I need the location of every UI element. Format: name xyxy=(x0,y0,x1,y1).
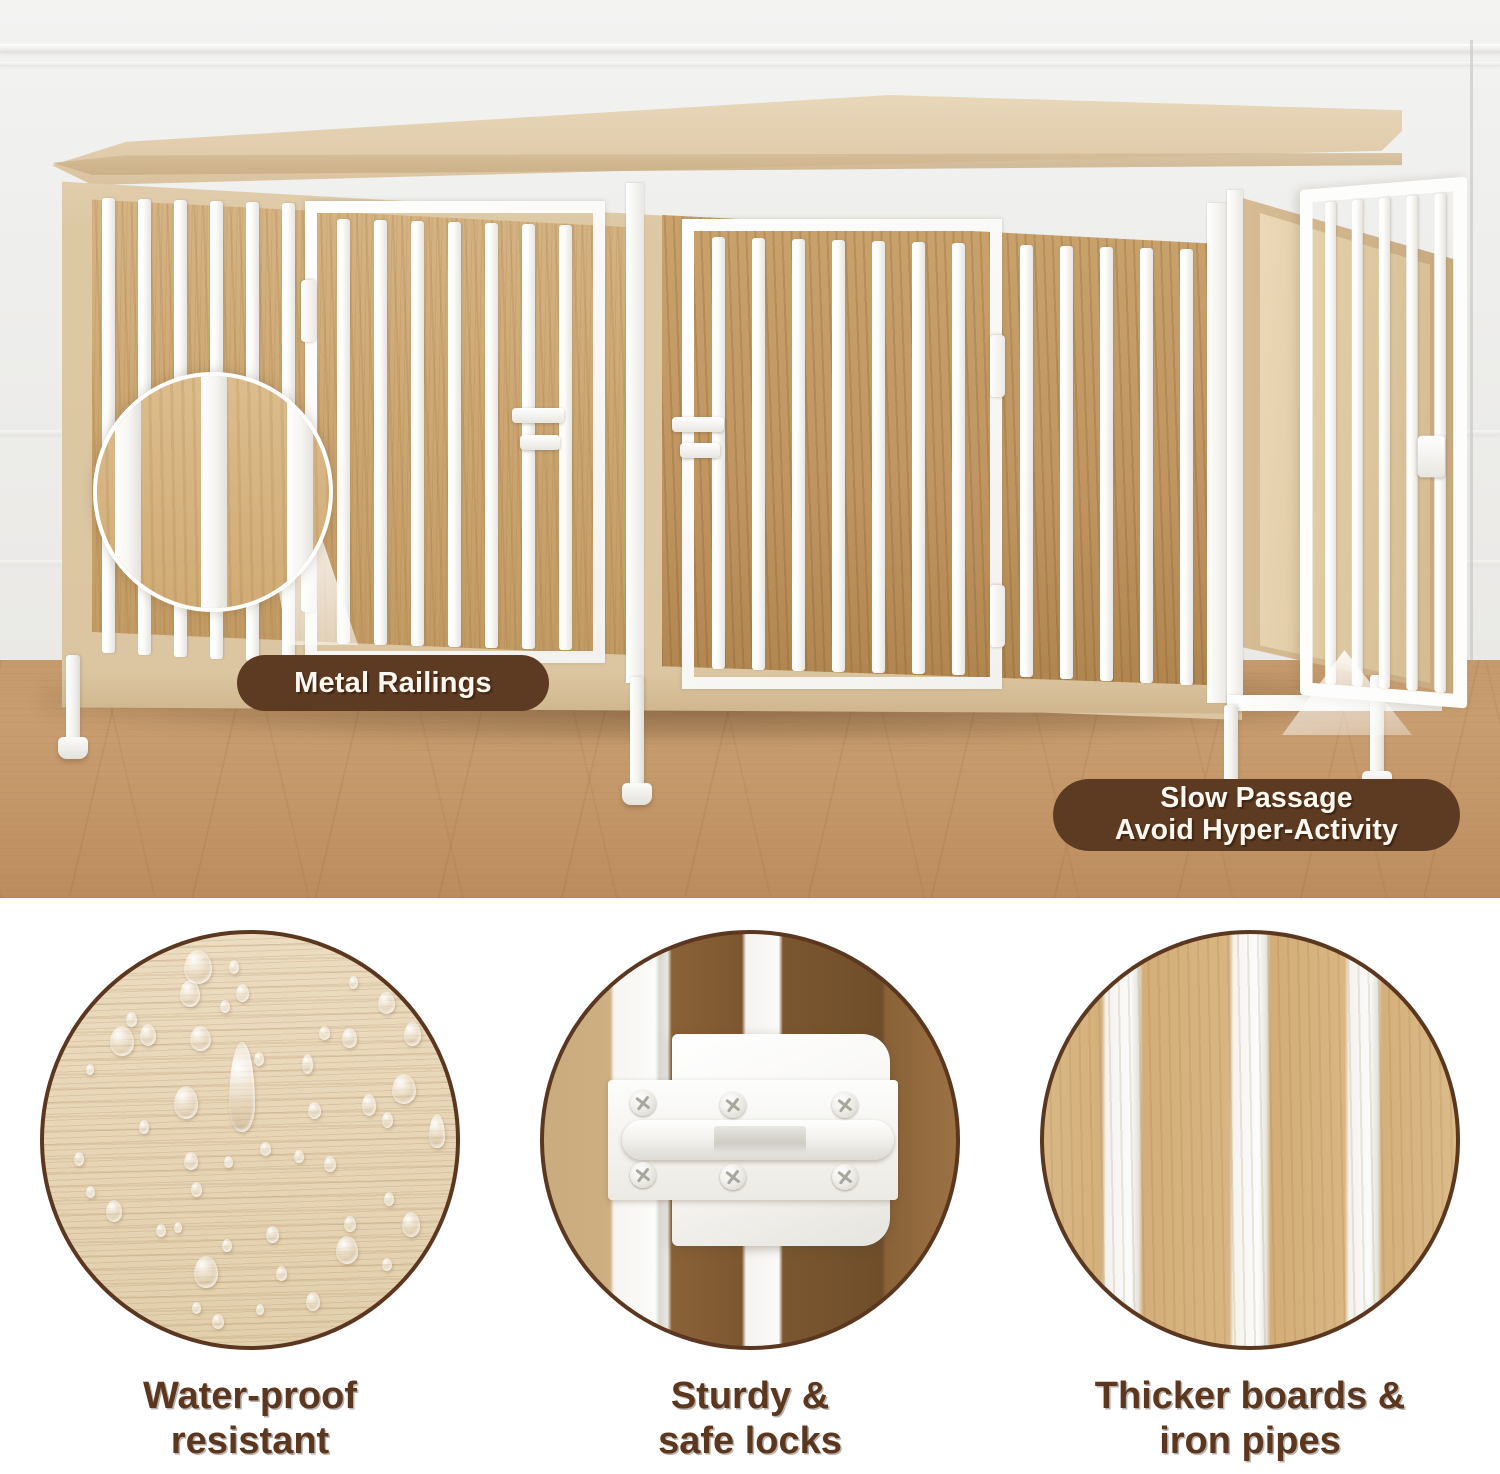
feature-highlights-row: Water-proof resistant Sturdy & safe lock… xyxy=(0,898,1500,1474)
door-hinge-icon xyxy=(301,280,316,342)
door-bar xyxy=(485,223,498,648)
badge-slow-passage-line2: Avoid Hyper-Activity xyxy=(1115,815,1398,847)
open-door-bar xyxy=(1406,195,1417,691)
badge-metal-railings: Metal Railings xyxy=(237,655,549,711)
crate-right-post xyxy=(1207,203,1227,703)
magnified-rail-bar xyxy=(201,372,227,612)
badge-slow-passage: Slow Passage Avoid Hyper-Activity xyxy=(1053,779,1460,851)
door-bar xyxy=(411,221,424,646)
feature-thicker-boards: Thicker boards & iron pipes xyxy=(1000,898,1500,1474)
water-droplets-icon xyxy=(40,930,460,1350)
feature-caption-line1: Sturdy & xyxy=(658,1374,842,1419)
door-bar xyxy=(832,240,845,672)
door-bar xyxy=(792,239,805,671)
product-feature-page: Metal Railings Slow Passage Avoid Hyper-… xyxy=(0,0,1500,1474)
magnified-rail-bar xyxy=(287,372,313,612)
wall-molding-top xyxy=(0,44,1500,53)
lock-screw xyxy=(832,1092,858,1118)
door-bar xyxy=(337,219,350,644)
lock-bolt-spring xyxy=(714,1126,806,1154)
rail-bar xyxy=(1100,247,1113,681)
feature-caption: Sturdy & safe locks xyxy=(658,1374,842,1464)
door-bar xyxy=(448,222,461,647)
wall-panel-line xyxy=(1470,40,1473,660)
crate-open-door[interactable] xyxy=(1300,177,1467,709)
hero-product-photo: Metal Railings Slow Passage Avoid Hyper-… xyxy=(0,0,1500,898)
door-latch-right-lower[interactable] xyxy=(680,443,720,458)
badge-slow-passage-line1: Slow Passage xyxy=(1160,783,1353,815)
slide-bolt-lock-icon xyxy=(540,930,960,1350)
open-door-bar xyxy=(1352,199,1363,687)
crate-leg xyxy=(66,655,80,745)
feature-caption-line2: iron pipes xyxy=(1095,1419,1405,1464)
door-bar xyxy=(872,241,885,673)
feature-caption-line1: Water-proof xyxy=(143,1374,357,1419)
door-bar xyxy=(374,220,387,645)
open-door-bar xyxy=(1379,197,1390,689)
lock-screw xyxy=(630,1162,656,1188)
door-bar xyxy=(559,225,572,650)
crate-leg-foot xyxy=(58,737,88,759)
crate-right-opening-frame xyxy=(1227,190,1243,710)
crate-leg xyxy=(630,677,644,789)
crate-center-divider xyxy=(626,183,644,683)
metal-railings-magnifier xyxy=(93,372,333,612)
lock-screw xyxy=(720,1164,746,1190)
crate-leg-foot xyxy=(622,783,652,805)
rail-bar xyxy=(1060,246,1073,679)
board-and-pipe-icon xyxy=(1040,930,1460,1350)
door-hinge-icon xyxy=(990,585,1005,647)
rail-bar xyxy=(1140,248,1153,683)
feature-water-proof: Water-proof resistant xyxy=(0,898,500,1474)
door-hinge-icon xyxy=(990,335,1005,397)
door-bar xyxy=(912,242,925,674)
feature-caption-line2: safe locks xyxy=(658,1419,842,1464)
door-latch-left-lower[interactable] xyxy=(520,435,560,450)
feature-caption-line1: Thicker boards & xyxy=(1095,1374,1405,1419)
crate-tabletop-edge xyxy=(52,153,1402,175)
door-bar xyxy=(952,243,965,675)
open-door-bar xyxy=(1325,201,1336,684)
lock-screw xyxy=(832,1164,858,1190)
feature-safe-locks: Sturdy & safe locks xyxy=(500,898,1000,1474)
feature-caption: Water-proof resistant xyxy=(143,1374,357,1464)
lock-screw xyxy=(720,1092,746,1118)
door-latch-right[interactable] xyxy=(672,417,724,432)
magnified-rail-bar xyxy=(115,372,141,612)
rail-bar xyxy=(1020,245,1033,677)
open-door-latch[interactable] xyxy=(1418,436,1445,478)
wall-molding-top-secondary xyxy=(0,62,1500,66)
feature-caption-line2: resistant xyxy=(143,1419,357,1464)
rail-bar xyxy=(1180,249,1193,685)
lock-screw xyxy=(630,1090,656,1116)
feature-caption: Thicker boards & iron pipes xyxy=(1095,1374,1405,1464)
door-latch-left[interactable] xyxy=(512,408,564,423)
door-bar xyxy=(752,238,765,670)
